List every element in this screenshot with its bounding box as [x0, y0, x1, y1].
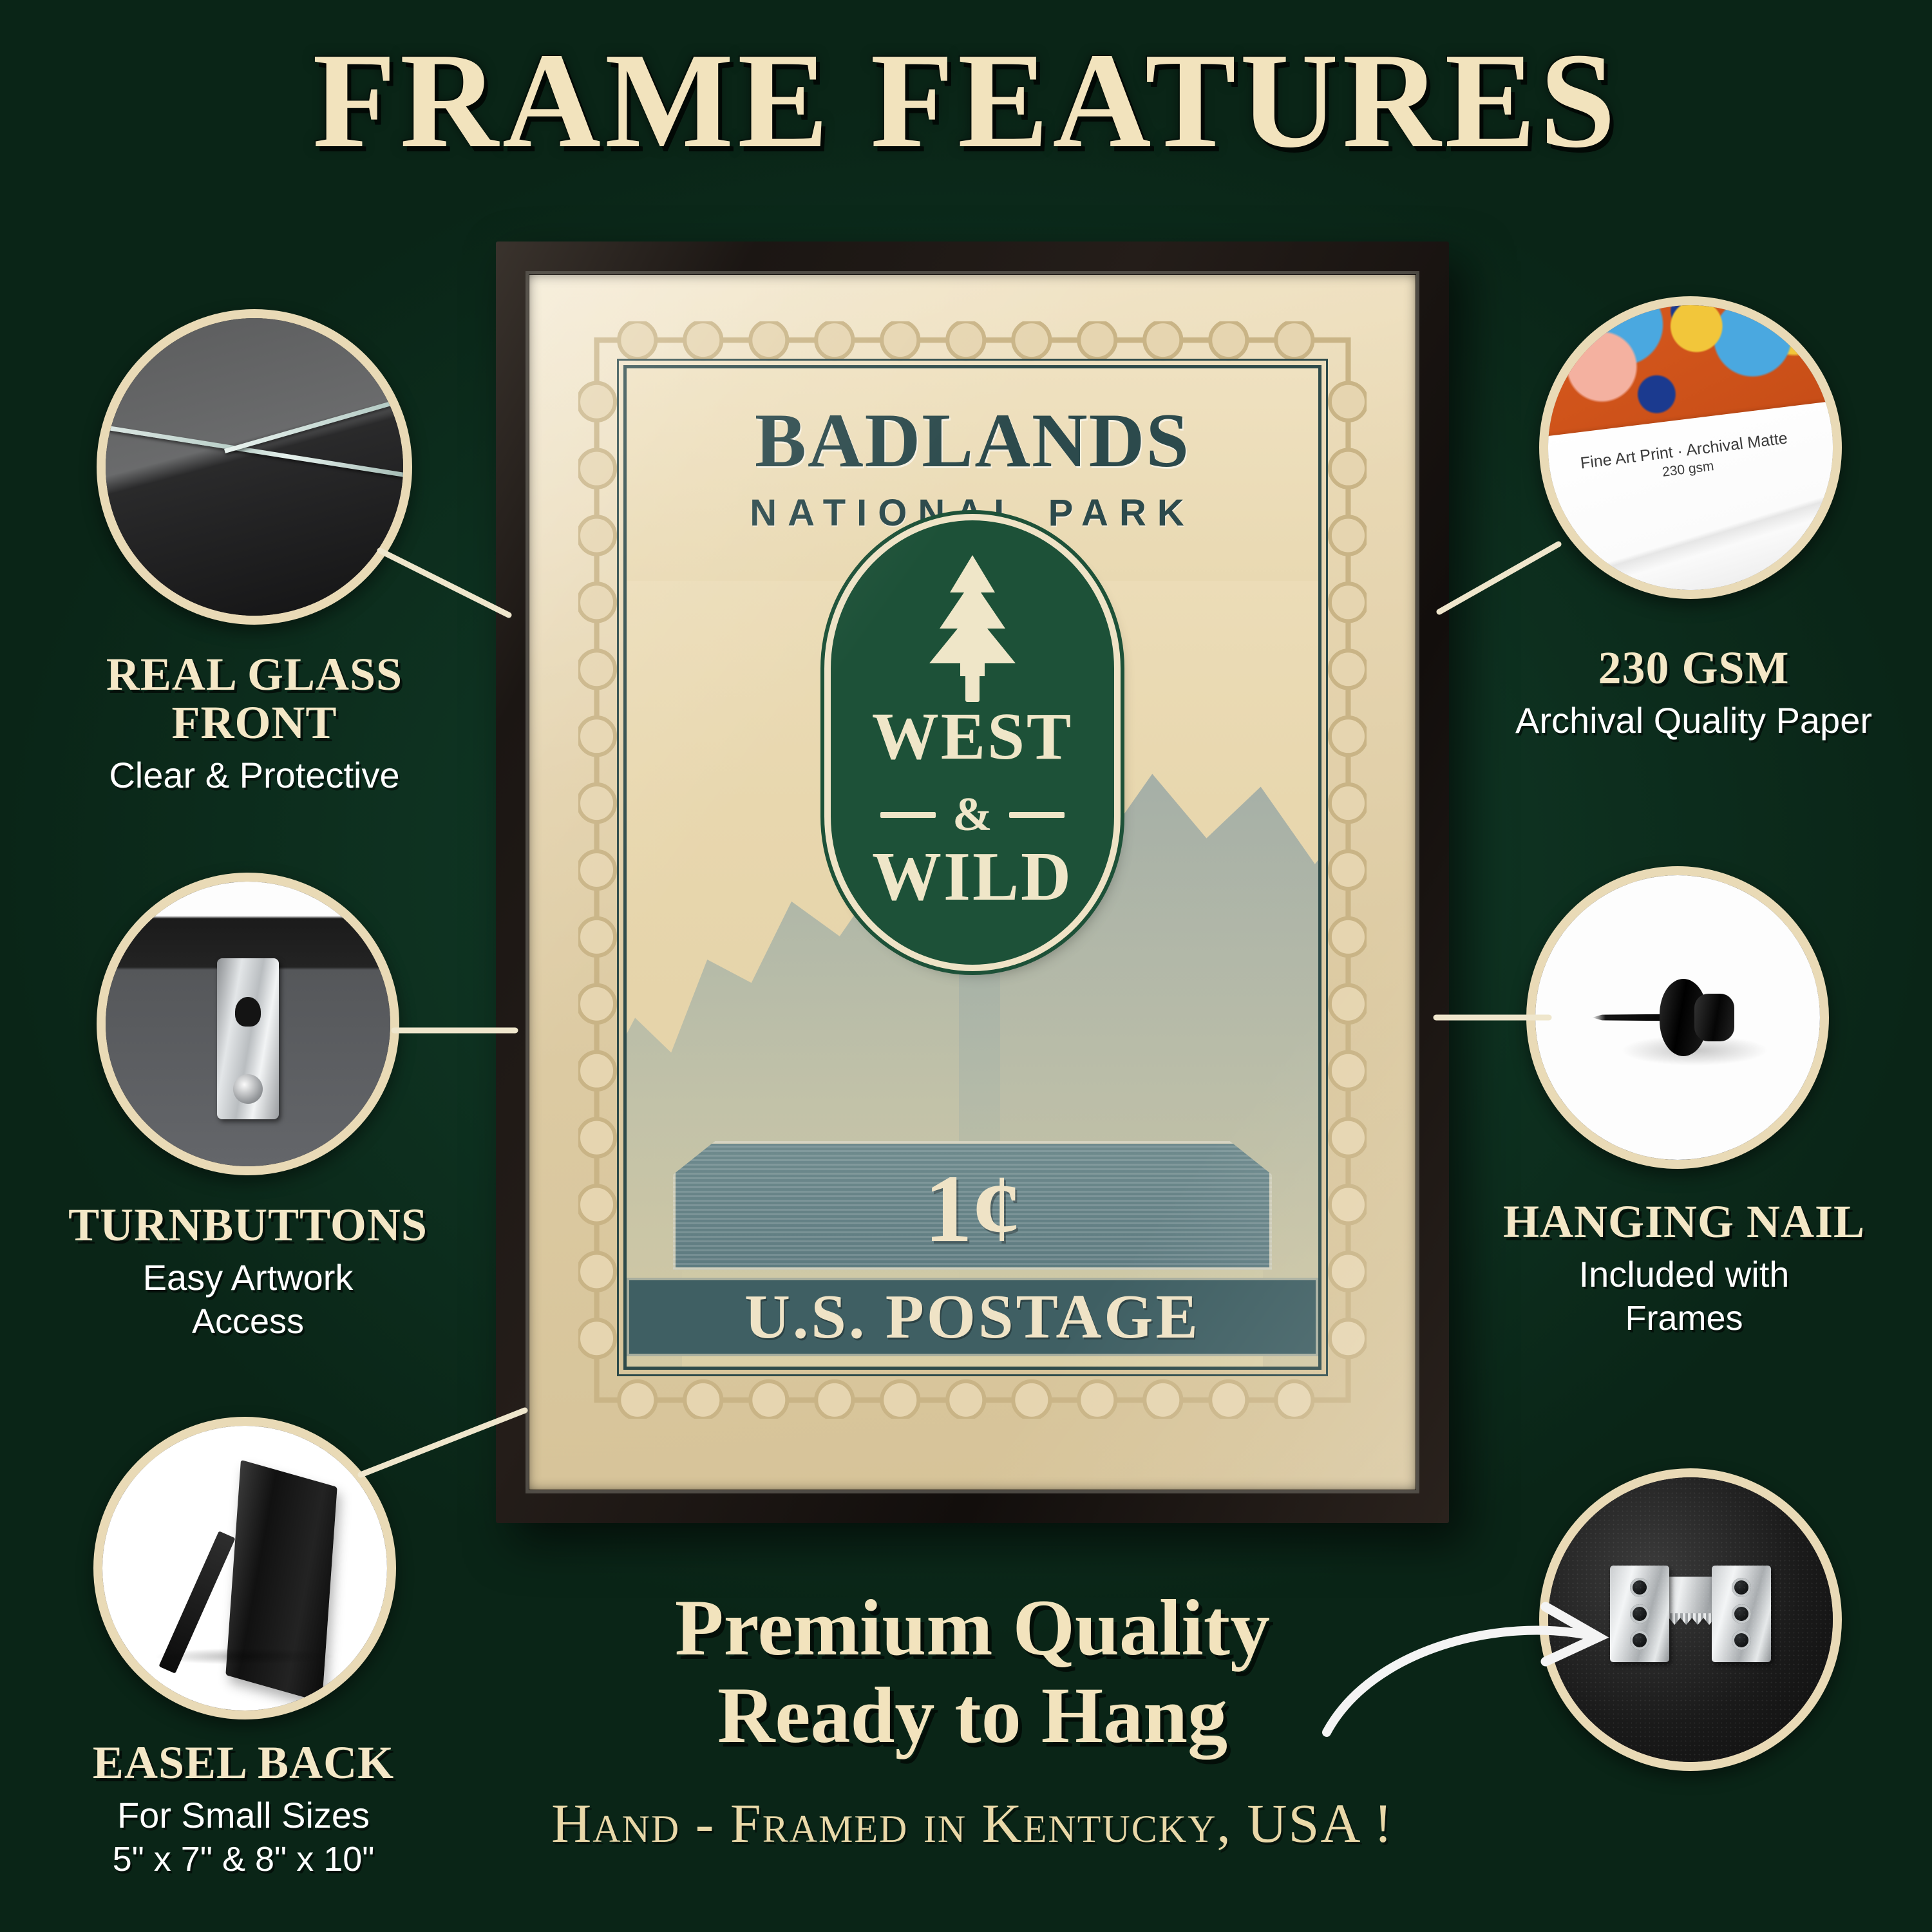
hanger-plate: [1610, 1566, 1771, 1662]
feature-circle-real-glass-front[interactable]: [97, 309, 412, 625]
postage-bar: U.S. POSTAGE: [627, 1278, 1318, 1356]
emblem-ampersand: &: [952, 791, 992, 838]
caption-turnbuttons: TURNBUTTONS Easy Artwork Access: [42, 1201, 454, 1341]
emblem-line-1: WEST: [831, 703, 1114, 770]
pine-tree-icon: [898, 550, 1046, 705]
wood-frame: BADLANDS NATIONAL PARK WEST &: [496, 241, 1449, 1523]
emblem-rule-left: [880, 812, 936, 818]
emblem-line-2: WILD: [831, 842, 1114, 912]
caption-hanging-nail: HANGING NAIL Included with Frames: [1478, 1198, 1890, 1338]
poster-title: BADLANDS: [627, 402, 1318, 479]
turnbutton-clip-photo: [106, 882, 390, 1166]
feature-heading-real-glass-front: REAL GLASS FRONT: [48, 650, 460, 747]
glass-edge: [97, 423, 412, 480]
poster-art: BADLANDS NATIONAL PARK WEST &: [529, 275, 1416, 1490]
feature-sub-turnbuttons: Easy Artwork: [42, 1257, 454, 1298]
page-title: FRAME FEATURES: [0, 32, 1932, 169]
sawtooth-hanger-photo: [1548, 1477, 1833, 1762]
feature-heading-easel-back: EASEL BACK: [37, 1739, 450, 1787]
turnbutton-hole: [235, 997, 261, 1027]
heading-line-1: REAL GLASS: [106, 649, 402, 700]
feature-circle-hanging-nail[interactable]: [1526, 866, 1829, 1169]
footer-slogan: Premium Quality Ready to Hang: [502, 1584, 1443, 1760]
hanger-wing-left: [1610, 1566, 1669, 1662]
emblem-ampersand-row: &: [831, 791, 1114, 838]
glass-edge-2: [224, 392, 412, 453]
easel-shadow: [154, 1648, 336, 1665]
hanger-wing-right: [1712, 1566, 1771, 1662]
fine-art-print-photo: Fine Art Print · Archival Matte 230 gsm: [1548, 305, 1833, 590]
denomination: 1¢: [627, 1160, 1318, 1257]
hanger-bridge: [1655, 1577, 1726, 1618]
feature-heading-hanging-nail: HANGING NAIL: [1478, 1198, 1890, 1246]
hanger-teeth: [1654, 1613, 1727, 1625]
feature-heading-turnbuttons: TURNBUTTONS: [42, 1201, 454, 1249]
nail-knob: [1694, 994, 1734, 1041]
made-in-label: Hand - Framed in Kentucky, USA !: [386, 1795, 1558, 1851]
stamp-body: BADLANDS NATIONAL PARK WEST &: [623, 365, 1321, 1370]
feature-sub-real-glass-front: Clear & Protective: [48, 755, 460, 796]
feature-sub2-hanging-nail: Frames: [1478, 1299, 1890, 1339]
slogan-line-1: Premium Quality: [675, 1584, 1270, 1672]
slogan-line-2: Ready to Hang: [717, 1671, 1227, 1759]
easel-board: [226, 1460, 337, 1702]
feature-circle-easel-back[interactable]: [93, 1417, 396, 1719]
infographic-canvas: FRAME FEATURES: [0, 0, 1932, 1932]
postage-label: U.S. POSTAGE: [744, 1285, 1200, 1349]
feature-heading-230-gsm: 230 GSM: [1488, 644, 1900, 692]
caption-real-glass-front: REAL GLASS FRONT Clear & Protective: [48, 650, 460, 796]
heading-line-2: FRONT: [172, 697, 337, 748]
glass-corner-photo: [106, 318, 403, 616]
feature-circle-230-gsm[interactable]: Fine Art Print · Archival Matte 230 gsm: [1539, 296, 1842, 599]
feature-circle-turnbuttons[interactable]: [97, 873, 399, 1175]
hanging-nail-photo: [1535, 875, 1820, 1160]
emblem-rule-right: [1009, 812, 1065, 818]
turnbutton-screw: [233, 1074, 263, 1104]
framed-poster[interactable]: BADLANDS NATIONAL PARK WEST &: [496, 241, 1449, 1523]
feature-sub2-turnbuttons: Access: [42, 1302, 454, 1342]
caption-230-gsm: 230 GSM Archival Quality Paper: [1488, 644, 1900, 741]
feature-sub-230-gsm: Archival Quality Paper: [1488, 700, 1900, 741]
feature-sub-hanging-nail: Included with: [1478, 1254, 1890, 1295]
connector-gsm: [1439, 544, 1558, 612]
easel-back-photo: [102, 1426, 387, 1710]
feature-circle-sawtooth-hanger[interactable]: [1539, 1468, 1842, 1771]
west-and-wild-emblem: WEST & WILD: [831, 520, 1114, 965]
turnbutton-clip: [217, 958, 279, 1119]
